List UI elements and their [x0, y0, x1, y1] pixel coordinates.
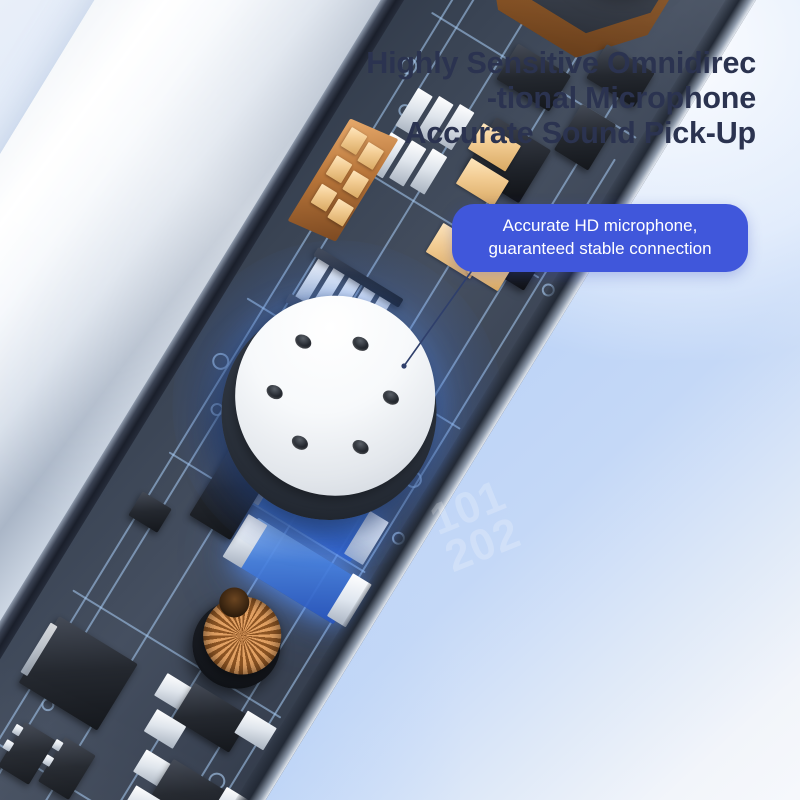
page-title: Highly Sensitive Omnidirec -tional Micro… [286, 46, 756, 151]
callout-badge-line-2: guaranteed stable connection [466, 237, 734, 260]
headline-line-2: -tional Microphone [286, 81, 756, 116]
callout-badge: Accurate HD microphone, guaranteed stabl… [452, 204, 748, 272]
headline-line-3: Accurate Sound Pick-Up [286, 116, 756, 151]
headline-line-1: Highly Sensitive Omnidirec [286, 46, 756, 81]
callout-badge-line-1: Accurate HD microphone, [466, 214, 734, 237]
product-banner: 101 202 Highly Sensitive Omnidirec -tion… [0, 0, 800, 800]
